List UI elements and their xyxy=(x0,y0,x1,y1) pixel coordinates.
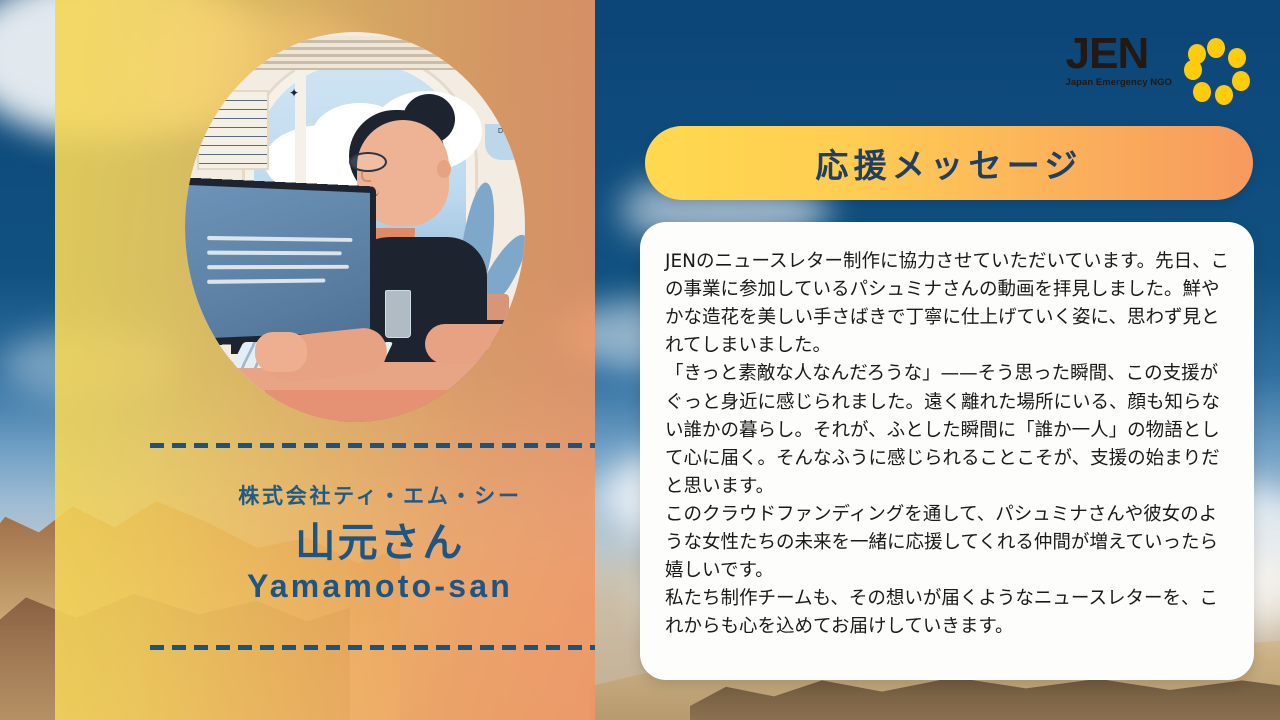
nose xyxy=(361,172,371,182)
person-name-jp: 山元さん xyxy=(110,520,595,566)
portrait-illustration: ✦ Desk xyxy=(185,32,525,422)
jen-logo: JEN Japan Emergency NGO xyxy=(1066,34,1251,104)
message-body-text: JENのニュースレター制作に協力させていただいています。先日、この事業に参加して… xyxy=(665,248,1232,642)
glasses-icon xyxy=(349,152,387,172)
title-banner: 応援メッセージ xyxy=(645,126,1253,200)
divider-top xyxy=(150,443,595,448)
arm-right xyxy=(425,324,525,364)
water-glass xyxy=(385,290,411,338)
sticky-note-icon xyxy=(197,90,269,170)
monitor-icon xyxy=(185,177,376,347)
company-name: 株式会社ティ・エム・シー xyxy=(110,480,595,510)
message-card: JENのニュースレター制作に協力させていただいています。先日、この事業に参加して… xyxy=(640,222,1254,680)
jen-logo-dots-icon xyxy=(1184,38,1250,104)
profile-name-block: 株式会社ティ・エム・シー 山元さん Yamamoto-san xyxy=(110,480,595,605)
window-blind xyxy=(233,36,489,70)
jen-logo-tagline: Japan Emergency NGO xyxy=(1066,77,1173,88)
desk-front xyxy=(265,390,525,422)
divider-bottom xyxy=(150,645,595,650)
jen-logo-text: JEN xyxy=(1066,34,1173,74)
jen-wordmark: JEN Japan Emergency NGO xyxy=(1066,34,1173,88)
bird-icon: ✦ xyxy=(289,86,299,100)
hand xyxy=(255,332,307,372)
ear xyxy=(437,160,451,178)
window-tag: Desk xyxy=(485,124,525,160)
person-name-en: Yamamoto-san xyxy=(110,568,595,605)
page-title: 応援メッセージ xyxy=(815,139,1082,187)
left-profile-panel: ✦ Desk 株式会社ティ・エム・シー xyxy=(55,0,595,720)
